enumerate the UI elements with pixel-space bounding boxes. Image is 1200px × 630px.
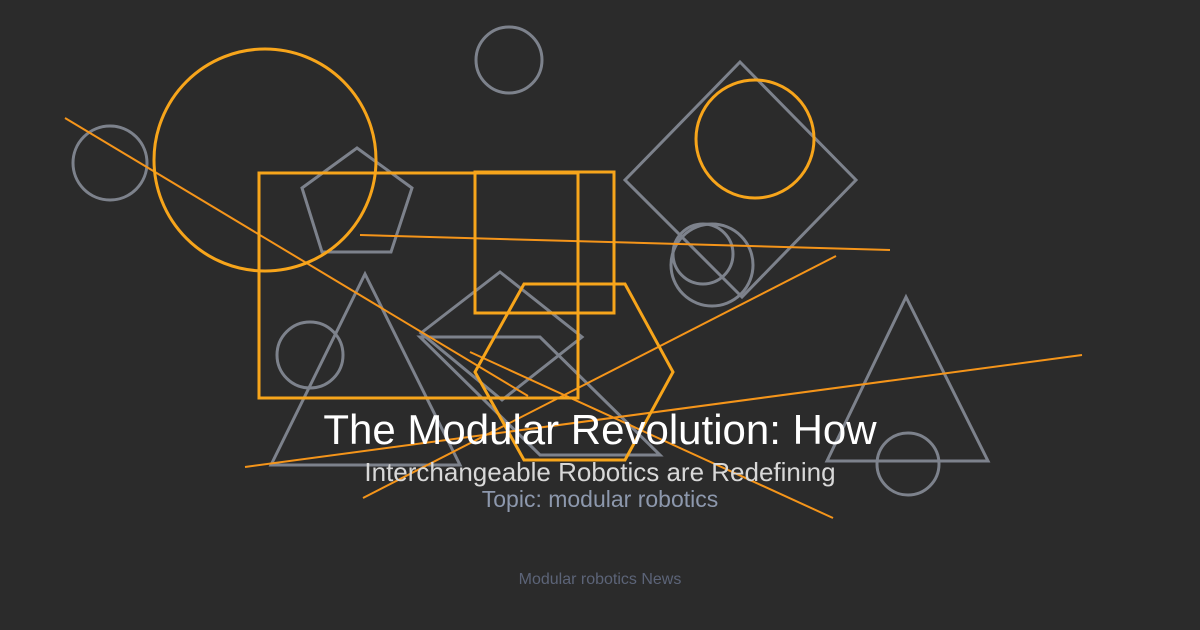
topic-label: Topic: modular robotics [0,485,1200,513]
page-subtitle: Interchangeable Robotics are Redefining [0,456,1200,488]
page-title: The Modular Revolution: How [0,406,1200,454]
card-text-layer: The Modular Revolution: How Interchangea… [0,0,1200,630]
source-footer: Modular robotics News [0,569,1200,591]
social-share-card: The Modular Revolution: How Interchangea… [0,0,1200,630]
